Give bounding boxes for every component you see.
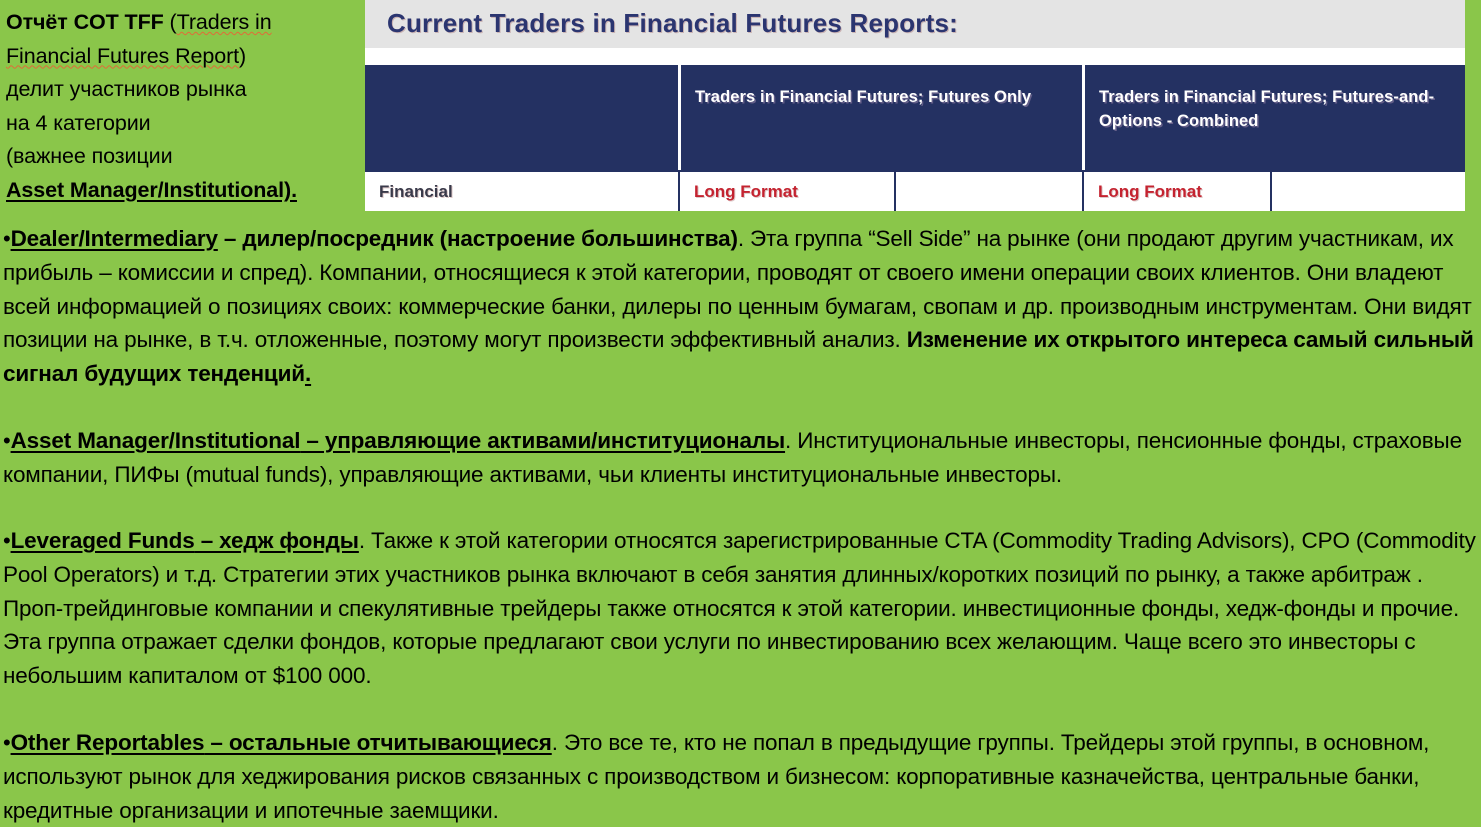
bullet-marker-3: • [3,528,11,553]
bullet-1-title-ru: – дилер/посредник (настроение большинств… [218,226,738,251]
bullet-item-leveraged-funds: •Leveraged Funds – хедж фонды. Также к э… [0,524,1481,693]
intro-line-4: на 4 категории [6,107,358,141]
bullet-1-emphasis-tail: . [305,361,311,386]
intro-line-6: Asset Manager/Institutional). [6,174,358,208]
cot-reports-table-image: Current Traders in Financial Futures Rep… [365,0,1465,211]
bullet-3-title-en: Leveraged Funds [11,528,195,553]
bullet-1-title-en: Dealer/Intermediary [11,226,218,251]
bullet-3-title-ru: – хедж фонды [195,528,359,553]
bullet-2-title-en: Asset Manager/Institutional [11,428,301,453]
cot-cell-long-format-combined: Long Format [1082,172,1270,211]
bullet-marker-4: • [3,730,11,755]
cot-table-header-row: Traders in Financial Futures; Futures On… [365,65,1465,170]
cot-cell-blank-1 [894,172,1082,211]
cot-header-cell-blank [365,65,678,170]
bullet-marker-2: • [3,428,11,453]
intro-line-2: Financial Futures Report) [6,40,358,74]
cot-table-spacer [365,48,1465,65]
intro-title-bold: Отчёт COT TFF [6,10,170,34]
bullet-item-asset-manager: •Asset Manager/Institutional – управляющ… [0,424,1481,492]
intro-line-1: Отчёт COT TFF (Traders in [6,6,358,40]
cot-table-row: Financial Long Format Long Format [365,170,1465,211]
intro-en-term-part1: Traders in [177,10,272,34]
intro-en-term-part2: Financial Futures Report [6,44,239,68]
intro-paren-close: ) [239,44,246,68]
intro-line-5: (важнее позиции [6,140,358,174]
slide-top-region: Отчёт COT TFF (Traders in Financial Futu… [0,0,1481,211]
intro-asset-manager-emphasis: Asset Manager/Institutional). [6,178,297,202]
cot-header-cell-futures-and-options: Traders in Financial Futures; Futures-an… [1082,65,1462,170]
bullet-2-title-ru: – управляющие активами/институционалы [300,428,785,453]
cot-cell-long-format-futures-only: Long Format [678,172,894,211]
cot-cell-blank-2 [1270,172,1460,211]
bullet-list: •Dealer/Intermediary – дилер/посредник (… [0,211,1481,819]
cot-table-title: Current Traders in Financial Futures Rep… [387,8,958,39]
bullet-marker-1: • [3,226,11,251]
cot-header-cell-futures-only: Traders in Financial Futures; Futures On… [678,65,1082,170]
intro-line-3: делит участников рынка [6,73,358,107]
bullet-item-other-reportables: •Other Reportables – остальные отчитываю… [0,726,1481,827]
cot-table-title-bar: Current Traders in Financial Futures Rep… [365,0,1465,48]
bullet-4-title-en: Other Reportables [11,730,205,755]
cot-row-label-financial: Financial [365,172,678,211]
intro-text-block: Отчёт COT TFF (Traders in Financial Futu… [6,6,358,207]
bullet-4-title-ru: – остальные отчитывающиеся [204,730,551,755]
intro-paren-open: ( [170,10,177,34]
bullet-item-dealer-intermediary: •Dealer/Intermediary – дилер/посредник (… [0,222,1481,391]
